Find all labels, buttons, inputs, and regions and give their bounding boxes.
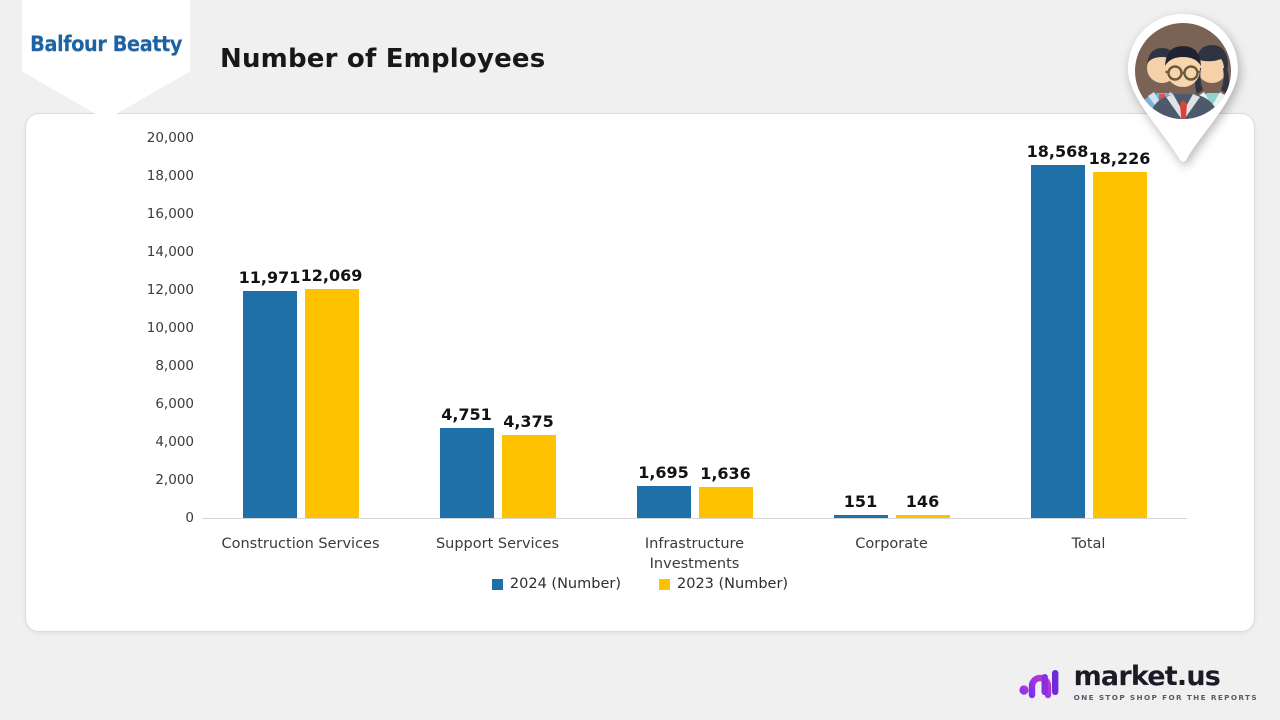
y-axis-tick-label: 18,000 [147,168,194,184]
y-axis-tick-label: 10,000 [147,320,194,336]
brand-logo-pin: Balfour Beatty [22,0,190,120]
market-us-wordmark: market.us [1074,663,1258,690]
plot-area: 11,97112,0694,7514,3751,6951,63615114618… [202,138,1187,518]
y-axis-tick-label: 12,000 [147,282,194,298]
market-us-bars-icon [1019,662,1065,702]
bar-2023[interactable] [502,435,556,518]
chart-legend: 2024 (Number)2023 (Number) [26,576,1254,592]
x-axis-category-label: Infrastructure Investments [610,534,780,574]
y-axis-tick-label: 0 [185,510,194,526]
x-axis-category-label: Total [1004,534,1174,554]
bar-2024[interactable] [440,428,494,518]
x-axis-category-label: Construction Services [216,534,386,554]
bar-value-label: 18,568 [1027,142,1089,161]
bar-value-label: 151 [844,492,877,511]
bar-2024[interactable] [1031,165,1085,518]
y-axis-tick-label: 4,000 [155,434,194,450]
y-axis-tick-label: 6,000 [155,396,194,412]
bar-2023[interactable] [699,487,753,518]
y-axis-labels: 20,00018,00016,00014,00012,00010,0008,00… [114,138,194,518]
x-axis-category-label: Support Services [413,534,583,554]
bar-group: 11,97112,069 [243,138,359,518]
legend-item[interactable]: 2024 (Number) [492,576,621,592]
legend-swatch-icon [659,579,670,590]
y-axis-tick-label: 20,000 [147,130,194,146]
page-title: Number of Employees [220,44,545,74]
bar-value-label: 11,971 [239,268,301,287]
legend-label: 2024 (Number) [510,576,621,592]
y-axis-tick-label: 14,000 [147,244,194,260]
y-axis-tick-label: 8,000 [155,358,194,374]
bar-chart: 20,00018,00016,00014,00012,00010,0008,00… [26,114,1254,631]
chart-card: 20,00018,00016,00014,00012,00010,0008,00… [25,113,1255,632]
market-us-logo: market.us ONE STOP SHOP FOR THE REPORTS [1019,662,1258,702]
legend-label: 2023 (Number) [677,576,788,592]
bar-value-label: 1,636 [700,464,751,483]
bar-group: 18,56818,226 [1031,138,1147,518]
bar-2023[interactable] [896,515,950,518]
bar-2023[interactable] [1093,172,1147,518]
bar-value-label: 146 [906,492,939,511]
market-us-tagline: ONE STOP SHOP FOR THE REPORTS [1074,693,1258,702]
bar-group: 4,7514,375 [440,138,556,518]
bar-2024[interactable] [834,515,888,518]
brand-logo-label: Balfour Beatty [28,32,184,56]
slide-root: Balfour Beatty Number of Employees [0,0,1280,720]
bar-value-label: 1,695 [638,463,689,482]
bar-2024[interactable] [243,291,297,518]
x-axis-line [202,518,1187,519]
y-axis-tick-label: 16,000 [147,206,194,222]
legend-swatch-icon [492,579,503,590]
bar-group: 151146 [834,138,950,518]
bar-value-label: 12,069 [301,266,363,285]
bar-value-label: 4,375 [503,412,554,431]
bar-2023[interactable] [305,289,359,518]
business-people-pin-icon [1124,12,1242,164]
x-axis-category-label: Corporate [807,534,977,554]
bar-group: 1,6951,636 [637,138,753,518]
legend-item[interactable]: 2023 (Number) [659,576,788,592]
y-axis-tick-label: 2,000 [155,472,194,488]
bar-value-label: 4,751 [441,405,492,424]
bar-2024[interactable] [637,486,691,518]
